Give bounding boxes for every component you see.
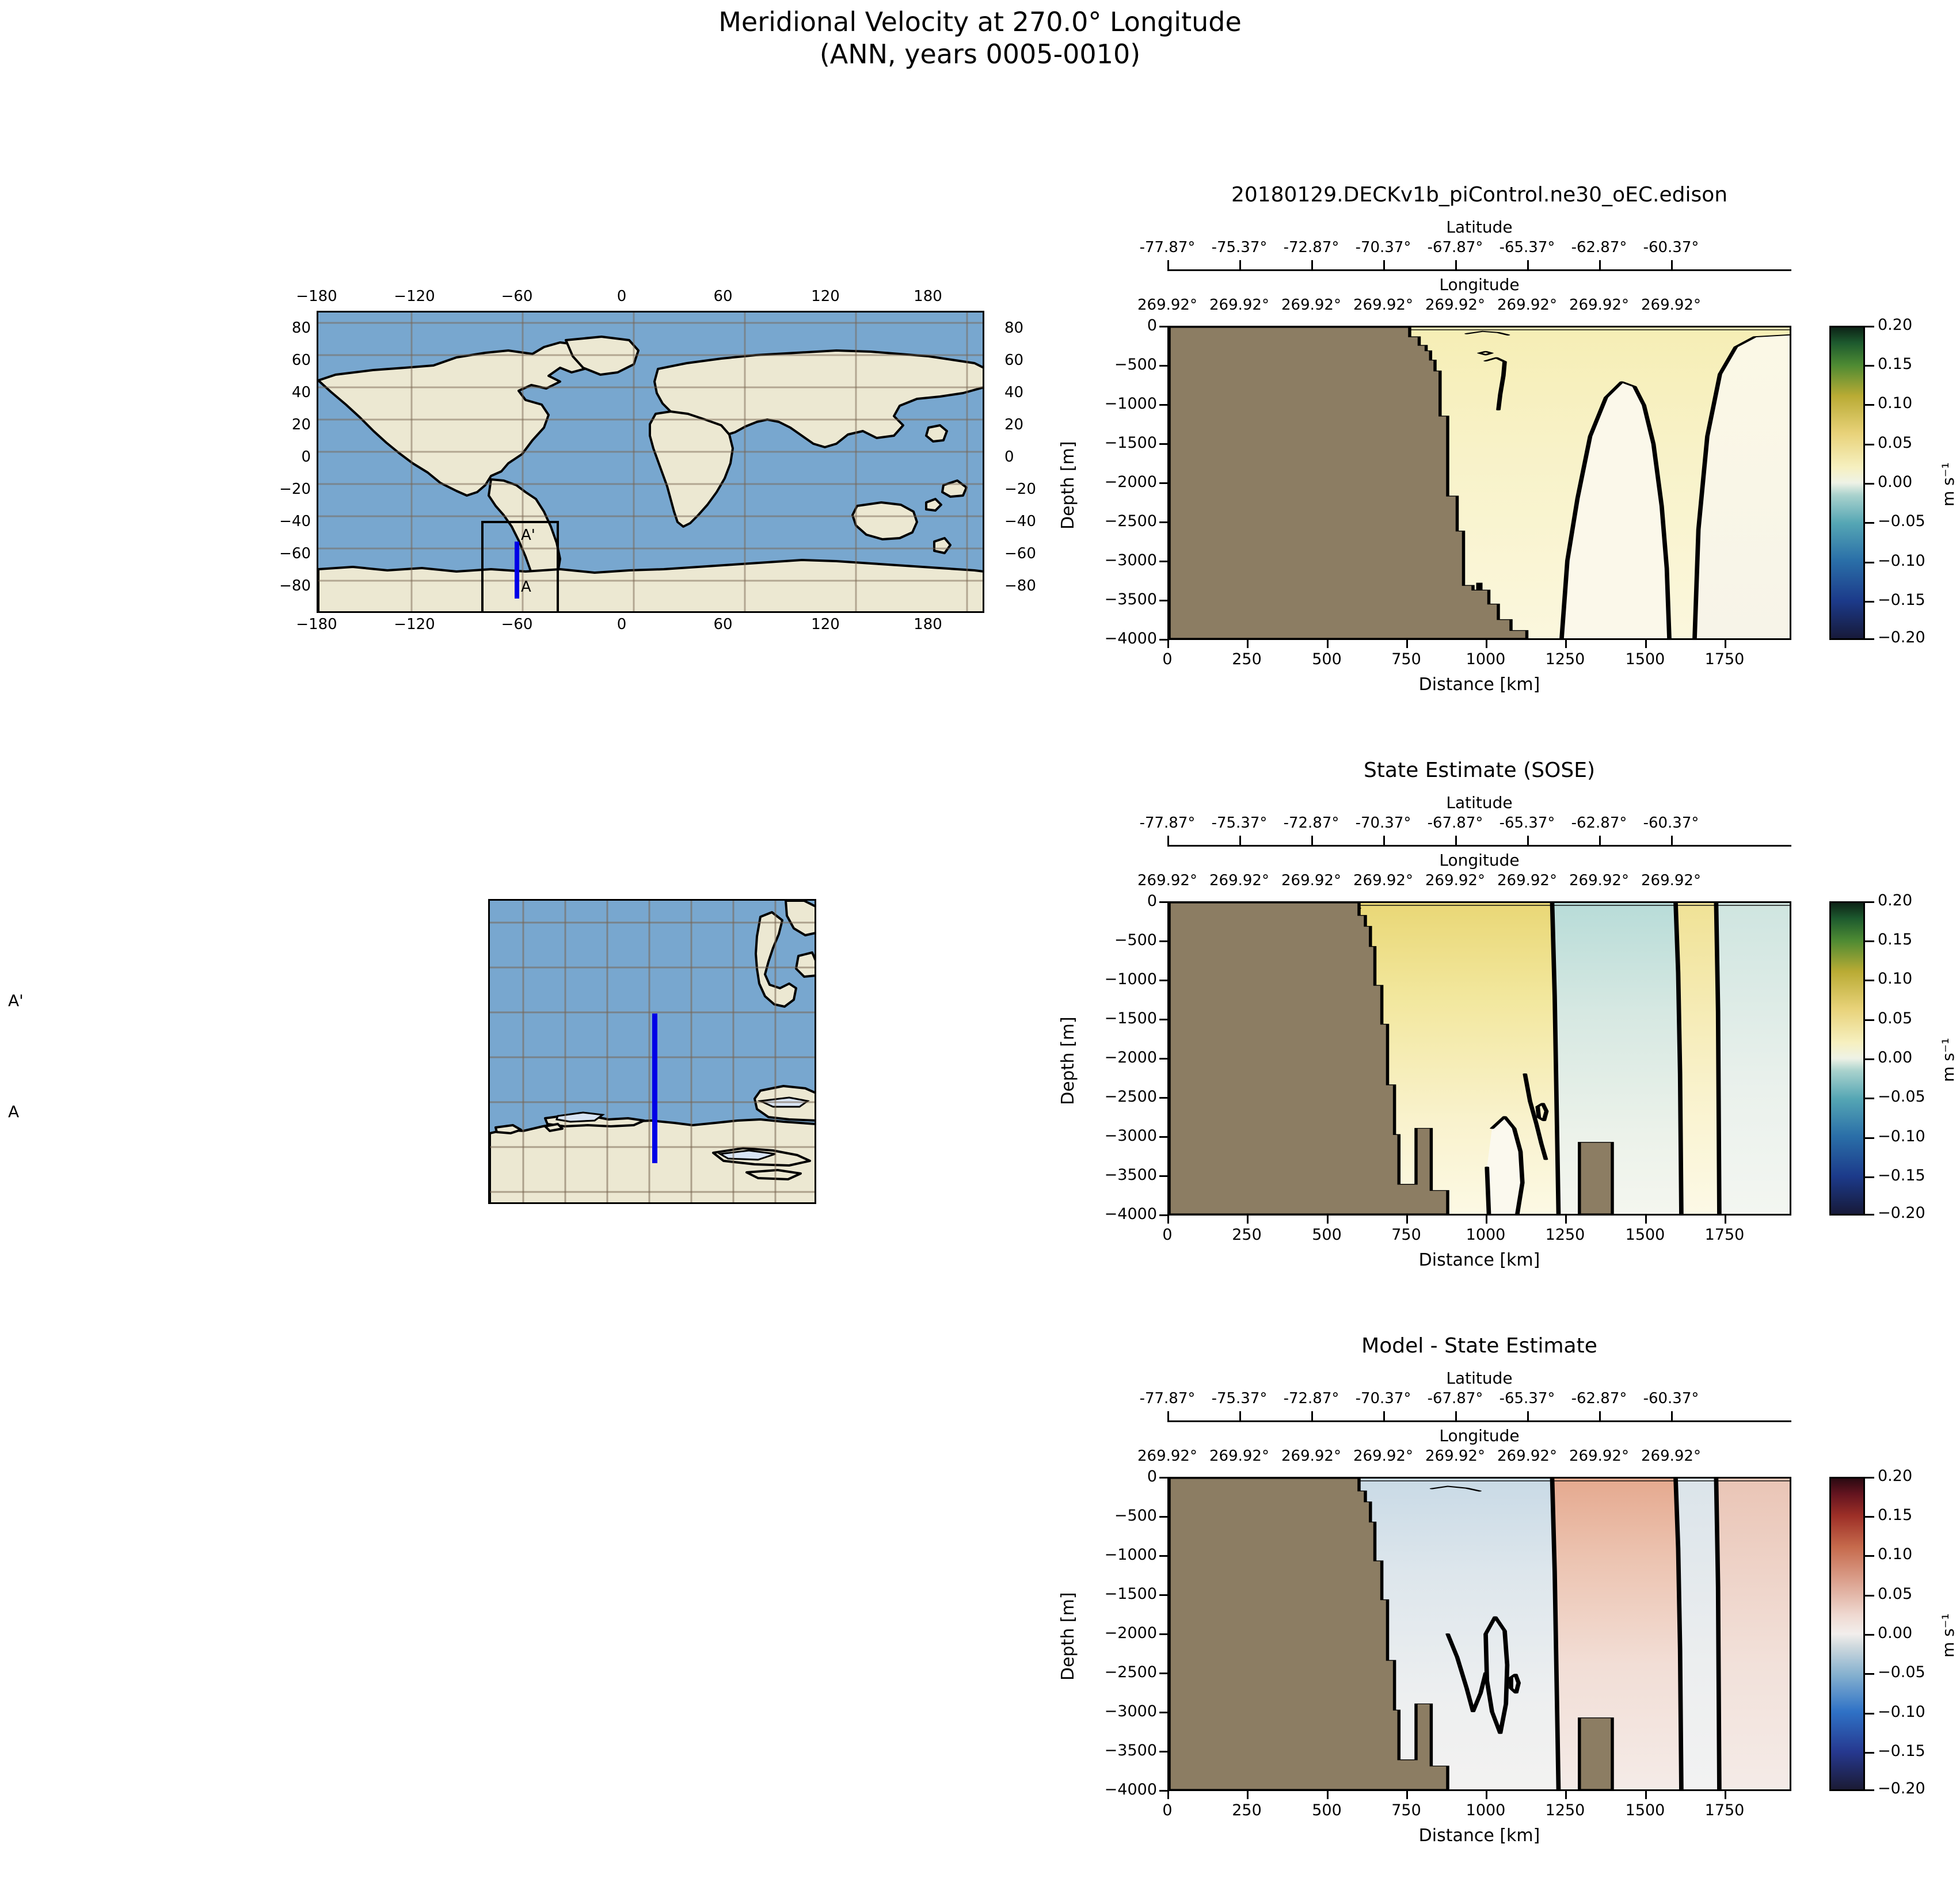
figure-title: Meridional Velocity at 270.0° Longitude …	[0, 6, 1960, 70]
xtick: 750	[1372, 1801, 1441, 1819]
ytick: −1500	[1071, 1585, 1157, 1603]
cbar-tick: −0.05	[1878, 1088, 1925, 1106]
world-map-ytick-right: −20	[1004, 481, 1062, 498]
xtick: 250	[1212, 1226, 1281, 1244]
ytick: −3000	[1071, 1127, 1157, 1145]
lon-tick: 269.92°	[1625, 296, 1717, 314]
cbar-tick: 0.20	[1878, 316, 1912, 334]
world-map-xtick-top: 60	[688, 288, 758, 305]
world-map-xtick-bottom: 180	[893, 616, 962, 633]
ytick: −4000	[1071, 1205, 1157, 1223]
panel-model-latitude-label: Latitude	[1167, 218, 1791, 237]
world-map-xtick-bottom: −180	[282, 616, 351, 633]
world-map-xtick-top: 0	[587, 288, 656, 305]
ytick: −4000	[1071, 1781, 1157, 1799]
cbar-tick: −0.10	[1878, 552, 1925, 570]
panel-model-longitude-ticks: 269.92° 269.92° 269.92° 269.92° 269.92° …	[1167, 296, 1791, 317]
panel-sose-longitude-ticks: 269.92° 269.92° 269.92° 269.92° 269.92° …	[1167, 872, 1791, 893]
world-map-ytick-left: 80	[253, 319, 311, 337]
panel-difference-colorbar-unit: m s⁻¹	[1939, 1613, 1958, 1658]
world-map-ytick-right: 60	[1004, 352, 1062, 369]
cbar-tick: 0.10	[1878, 970, 1912, 988]
figure-title-line2: (ANN, years 0005-0010)	[0, 38, 1960, 70]
world-map-ytick-right: −40	[1004, 513, 1062, 530]
world-map-ytick-left: −20	[253, 481, 311, 498]
world-map-ytick-right: 40	[1004, 384, 1062, 401]
xtick: 1250	[1531, 1801, 1600, 1819]
xtick: 1500	[1611, 650, 1680, 668]
cbar-tick: −0.05	[1878, 512, 1925, 530]
world-map-xtick-bottom: 0	[587, 616, 656, 633]
lat-tick: -60.37°	[1628, 239, 1714, 256]
world-map-end-label: A'	[521, 527, 535, 544]
ytick: −2000	[1071, 1624, 1157, 1642]
transect-start-label: A	[8, 1102, 19, 1121]
panel-sose-yaxis: 0 −500 −1000 −1500 −2000 −2500 −3000 −35…	[1071, 901, 1167, 1216]
world-map-start-label: A	[521, 578, 531, 596]
ytick: −1000	[1071, 395, 1157, 413]
cbar-tick: 0.00	[1878, 1049, 1912, 1066]
world-map-ytick-left: 0	[253, 448, 311, 466]
panel-sose-plot[interactable]	[1167, 901, 1791, 1216]
cbar-tick: 0.00	[1878, 473, 1912, 491]
panel-difference-ylabel: Depth [m]	[1058, 1592, 1078, 1681]
panel-difference-colorbar[interactable]	[1829, 1477, 1865, 1791]
cbar-tick: −0.20	[1878, 1780, 1925, 1797]
cbar-tick: −0.10	[1878, 1127, 1925, 1145]
world-map-xtick-top: 120	[791, 288, 860, 305]
xtick: 0	[1133, 650, 1202, 668]
ytick: −4000	[1071, 630, 1157, 647]
lon-tick: 269.92°	[1625, 1447, 1717, 1465]
inset-region-rectangle	[481, 521, 559, 613]
world-map-axes[interactable]: A' A	[317, 311, 984, 613]
cbar-tick: −0.20	[1878, 1204, 1925, 1222]
world-map-xtick-top: −60	[482, 288, 551, 305]
panel-difference-plot[interactable]	[1167, 1477, 1791, 1791]
panel-model-latitude-ticks: -77.87° -75.37° -72.87° -70.37° -67.87° …	[1167, 239, 1791, 260]
xtick: 250	[1212, 650, 1281, 668]
cbar-tick: 0.15	[1878, 1506, 1912, 1524]
world-overview-map-group: −180 −120 −60 0 60 120 180 80 60 40 20 0…	[299, 288, 1002, 645]
cbar-tick: −0.20	[1878, 628, 1925, 646]
panel-difference-latitude-label: Latitude	[1167, 1369, 1791, 1388]
world-map-ytick-right: 20	[1004, 416, 1062, 433]
panel-difference-longitude-label: Longitude	[1167, 1426, 1791, 1445]
panel-model-ylabel: Depth [m]	[1058, 441, 1078, 529]
panel-sose-ylabel: Depth [m]	[1058, 1016, 1078, 1105]
xtick: 1750	[1690, 650, 1759, 668]
cbar-tick: −0.15	[1878, 1167, 1925, 1184]
world-map-ytick-left: −40	[253, 513, 311, 530]
xtick: 1000	[1451, 650, 1520, 668]
panel-model-field	[1169, 327, 1790, 638]
inset-transect-line	[652, 1014, 657, 1163]
ytick: −1500	[1071, 1009, 1157, 1027]
world-map-ytick-right: −80	[1004, 577, 1062, 595]
panel-model-longitude-label: Longitude	[1167, 275, 1791, 294]
world-map-xtick-top: 180	[893, 288, 962, 305]
regional-inset-map-group	[488, 899, 816, 1204]
figure-title-line1: Meridional Velocity at 270.0° Longitude	[0, 6, 1960, 38]
cbar-tick: 0.10	[1878, 394, 1912, 412]
panel-model-colorbar-unit: m s⁻¹	[1939, 462, 1958, 506]
lat-tick: -60.37°	[1628, 814, 1714, 832]
cbar-tick: 0.20	[1878, 892, 1912, 909]
world-map-xtick-bottom: −60	[482, 616, 551, 633]
xtick: 0	[1133, 1226, 1202, 1244]
world-map-yticks-right: 80 60 40 20 0 −20 −40 −60 −80	[1004, 311, 1062, 610]
ytick: −3500	[1071, 1166, 1157, 1184]
world-map-ytick-right: 0	[1004, 448, 1062, 466]
panel-model-title: 20180129.DECKv1b_piControl.ne30_oEC.edis…	[1082, 183, 1877, 207]
world-map-yticks-left: 80 60 40 20 0 −20 −40 −60 −80	[253, 311, 311, 610]
world-map-xtick-bottom: 120	[791, 616, 860, 633]
world-map-xtick-top: −180	[282, 288, 351, 305]
panel-model-latitude-spine	[1167, 260, 1791, 271]
panel-difference-xlabel: Distance [km]	[1167, 1826, 1791, 1846]
cbar-tick: 0.05	[1878, 1585, 1912, 1603]
cbar-tick: 0.15	[1878, 931, 1912, 948]
ytick: −2500	[1071, 1088, 1157, 1106]
panel-sose-latitude-label: Latitude	[1167, 793, 1791, 812]
panel-sose-latitude-ticks: -77.87° -75.37° -72.87° -70.37° -67.87° …	[1167, 814, 1791, 835]
panel-model-yaxis: 0 −500 −1000 −1500 −2000 −2500 −3000 −35…	[1071, 326, 1167, 640]
panel-sose-colorbar-unit: m s⁻¹	[1939, 1038, 1958, 1082]
ytick: −2000	[1071, 1049, 1157, 1066]
cbar-tick: 0.00	[1878, 1624, 1912, 1642]
world-map-ytick-right: 80	[1004, 319, 1062, 337]
ytick: −3500	[1071, 1742, 1157, 1759]
cbar-tick: 0.15	[1878, 355, 1912, 373]
xtick: 500	[1292, 1801, 1361, 1819]
lon-tick: 269.92°	[1625, 872, 1717, 889]
panel-difference-field	[1169, 1479, 1790, 1789]
panel-difference-latitude-spine	[1167, 1411, 1791, 1422]
panel-sose-longitude-label: Longitude	[1167, 851, 1791, 870]
ytick: −2000	[1071, 473, 1157, 491]
world-map-ytick-left: −60	[253, 545, 311, 562]
panel-difference-yaxis: 0 −500 −1000 −1500 −2000 −2500 −3000 −35…	[1071, 1477, 1167, 1791]
xtick: 0	[1133, 1801, 1202, 1819]
panel-model-colorbar[interactable]	[1829, 326, 1865, 640]
panel-difference-latitude-ticks: -77.87° -75.37° -72.87° -70.37° -67.87° …	[1167, 1390, 1791, 1411]
cbar-tick: 0.05	[1878, 434, 1912, 452]
xtick: 1250	[1531, 650, 1600, 668]
panel-model-plot[interactable]	[1167, 326, 1791, 640]
panel-sose-latitude-spine	[1167, 836, 1791, 846]
ytick: −500	[1071, 1507, 1157, 1525]
ytick: −2500	[1071, 512, 1157, 530]
cbar-tick: 0.20	[1878, 1467, 1912, 1485]
xtick: 750	[1372, 650, 1441, 668]
cbar-tick: −0.15	[1878, 591, 1925, 609]
world-map-ytick-left: 60	[253, 352, 311, 369]
world-map-ytick-left: 40	[253, 384, 311, 401]
ytick: 0	[1071, 317, 1157, 334]
cbar-tick: −0.10	[1878, 1703, 1925, 1721]
xtick: 750	[1372, 1226, 1441, 1244]
xtick: 1000	[1451, 1801, 1520, 1819]
world-map-xtick-bottom: −120	[380, 616, 449, 633]
world-map-ytick-left: −80	[253, 577, 311, 595]
ytick: −3000	[1071, 551, 1157, 569]
world-map-ytick-right: −60	[1004, 545, 1062, 562]
world-map-xtick-bottom: 60	[688, 616, 758, 633]
ytick: 0	[1071, 892, 1157, 910]
ytick: −1000	[1071, 1546, 1157, 1564]
ytick: 0	[1071, 1468, 1157, 1485]
panel-difference-title: Model - State Estimate	[1082, 1334, 1877, 1358]
ytick: −2500	[1071, 1663, 1157, 1681]
xtick: 500	[1292, 650, 1361, 668]
ytick: −1500	[1071, 434, 1157, 452]
cbar-tick: −0.05	[1878, 1663, 1925, 1681]
xtick: 1250	[1531, 1226, 1600, 1244]
panel-sose-xlabel: Distance [km]	[1167, 1250, 1791, 1270]
cbar-tick: −0.15	[1878, 1742, 1925, 1760]
panel-model-xlabel: Distance [km]	[1167, 675, 1791, 695]
xtick: 1500	[1611, 1226, 1680, 1244]
xtick: 1500	[1611, 1801, 1680, 1819]
ytick: −500	[1071, 931, 1157, 949]
panel-sose-field	[1169, 903, 1790, 1214]
inset-map-axes[interactable]	[488, 899, 816, 1204]
xtick: 1750	[1690, 1801, 1759, 1819]
world-map-xticks-top: −180 −120 −60 0 60 120 180	[299, 288, 1002, 311]
xtick: 500	[1292, 1226, 1361, 1244]
cbar-tick: 0.10	[1878, 1545, 1912, 1563]
ytick: −3500	[1071, 590, 1157, 608]
panel-sose-title: State Estimate (SOSE)	[1082, 759, 1877, 782]
panel-difference-longitude-ticks: 269.92° 269.92° 269.92° 269.92° 269.92° …	[1167, 1447, 1791, 1468]
ytick: −3000	[1071, 1702, 1157, 1720]
ytick: −1000	[1071, 970, 1157, 988]
transect-end-label: A'	[8, 991, 24, 1010]
world-map-xtick-top: −120	[380, 288, 449, 305]
world-map-ytick-left: 20	[253, 416, 311, 433]
world-map-xticks-bottom: −180 −120 −60 0 60 120 180	[299, 616, 1002, 639]
transect-line	[515, 542, 519, 599]
lat-tick: -60.37°	[1628, 1390, 1714, 1407]
xtick: 1750	[1690, 1226, 1759, 1244]
xtick: 1000	[1451, 1226, 1520, 1244]
cbar-tick: 0.05	[1878, 1009, 1912, 1027]
panel-sose-colorbar[interactable]	[1829, 901, 1865, 1216]
world-map-coastlines	[318, 313, 984, 612]
xtick: 250	[1212, 1801, 1281, 1819]
ytick: −500	[1071, 356, 1157, 374]
